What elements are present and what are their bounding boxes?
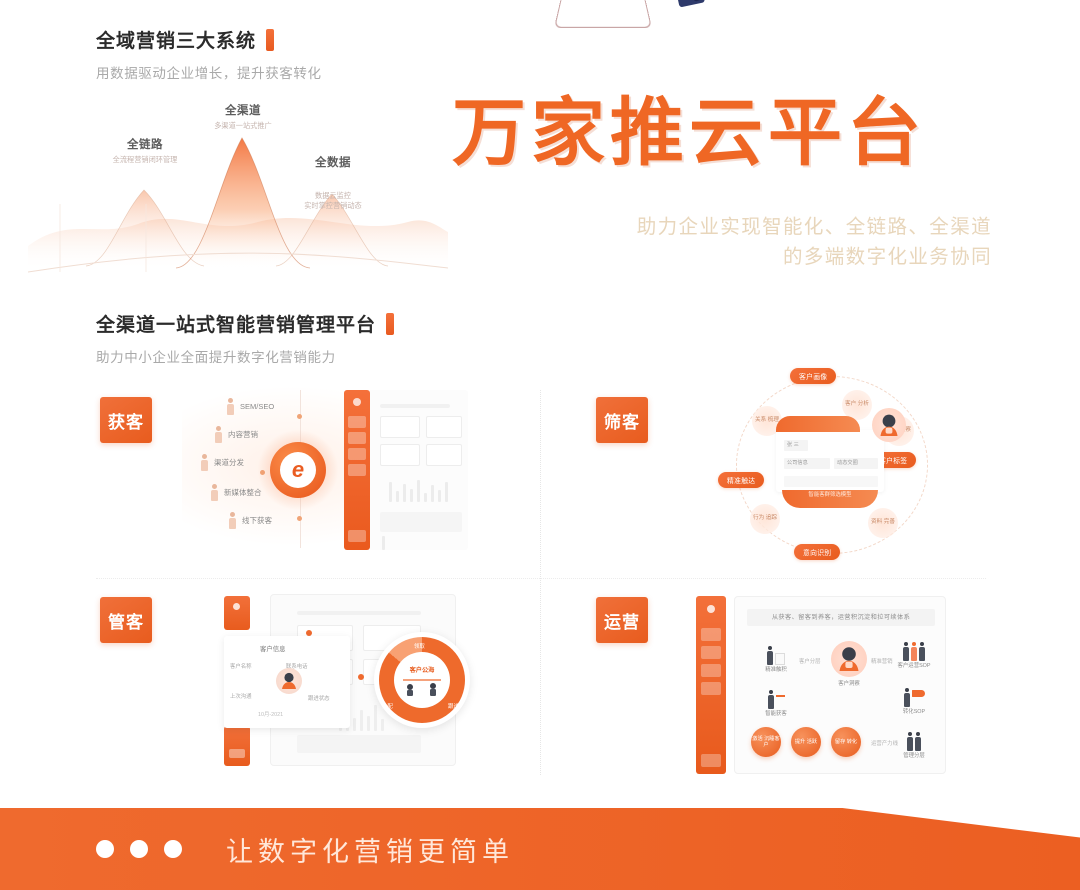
avatar [872, 408, 906, 442]
channel-item: 内容营销 [214, 426, 258, 443]
avatar [276, 668, 302, 694]
acquire-core-node: e [270, 442, 326, 498]
customer-field: 上次沟通 [230, 692, 252, 700]
customer-date: 10月-2021 [258, 710, 283, 718]
person-foot-icon [677, 0, 705, 8]
filter-pill: 意向识别 [794, 544, 840, 560]
person-icon [904, 688, 910, 707]
banner-dot-icon [164, 840, 182, 858]
person-icon [200, 454, 209, 471]
section-two-header: 全渠道一站式智能营销管理平台 助力中小企业全面提升数字化营销能力 [96, 310, 394, 366]
tab-logo-icon [233, 603, 240, 610]
operate-illustration: 从获客、留客到养客，运营积沉淀和拉可续体系 精准触积 智能获 [690, 590, 948, 780]
person-icon [226, 398, 235, 415]
operate-panel: 从获客、留客到养客，运营积沉淀和拉可续体系 精准触积 智能获 [734, 596, 946, 774]
badge-operate[interactable]: 运营 [596, 597, 648, 643]
manage-tab-bottom [224, 726, 250, 766]
feature-grid: 获客 SEM/SEO 内容营销 渠道分发 [0, 372, 1080, 792]
avatar-figure-icon [872, 408, 906, 442]
person-icon [210, 484, 219, 501]
customer-info-title: 客户信息 [260, 644, 286, 653]
badge-manage[interactable]: 管客 [100, 597, 152, 643]
section-one-title-row: 全域营销三大系统 [96, 26, 322, 53]
profile-field-blank [784, 476, 878, 487]
sidebar-item [701, 628, 721, 641]
sidebar-logo-icon [707, 605, 715, 613]
accent-bar-icon [266, 29, 274, 51]
sidebar-item [701, 664, 721, 677]
three-people-icon [891, 637, 937, 661]
mock-bar [382, 536, 385, 550]
mock-box [426, 444, 462, 466]
filter-blob: 行为 追踪 [750, 504, 780, 534]
badge-acquire[interactable]: 获客 [100, 397, 152, 443]
manage-dot [358, 674, 364, 680]
banner-text: 让数字化营销更简单 [226, 830, 514, 869]
accent-bar-icon-2 [386, 313, 394, 335]
person-pointing-icon [753, 685, 799, 709]
acquire-node-dot [297, 414, 302, 419]
tab-item [229, 749, 245, 758]
section-one-subtitle: 用数据驱动企业增长，提升获客转化 [96, 62, 322, 82]
operate-mid-label: 精准营销 [871, 657, 893, 665]
profile-field: 动态交圈 [834, 458, 878, 469]
person-icon [907, 732, 913, 751]
hero-subtitle-line1: 助力企业实现智能化、全链路、全渠道 [637, 212, 992, 242]
mock-bar [410, 489, 413, 502]
acquire-node-dot [297, 516, 302, 521]
hero-subtitle-line2: 的多端数字化业务协同 [637, 242, 992, 272]
mock-bar [367, 716, 370, 731]
customer-pool-ring: 客户公海 领取 分配 跟进 [374, 632, 470, 728]
sidebar-logo-icon [353, 398, 361, 406]
pointer-icon [776, 695, 785, 697]
sidebar-item [348, 464, 366, 476]
pool-figures-icon [400, 676, 444, 696]
filter-pill: 精准触达 [718, 472, 764, 488]
operate-circle: 留存 转化 [831, 727, 861, 757]
person-with-megaphone-icon [891, 683, 937, 707]
avatar-figure-icon [276, 668, 302, 694]
card-bottom-band: 智能客群筛选模型 [782, 490, 878, 508]
sidebar-item [348, 530, 366, 542]
chevron-outline-icon [554, 0, 652, 28]
person-icon [214, 426, 223, 443]
channel-item: 渠道分发 [200, 454, 244, 471]
ring-label: 跟进 [448, 702, 459, 710]
board-icon [775, 653, 785, 665]
ring-center-label: 客户公海 [410, 665, 435, 674]
customer-field: 跟进状态 [308, 694, 330, 702]
person-icon [767, 646, 773, 665]
banner-dots [96, 840, 182, 858]
mock-bar [360, 710, 363, 731]
vertical-divider [540, 390, 541, 775]
hero-subtitle: 助力企业实现智能化、全链路、全渠道 的多端数字化业务协同 [637, 212, 992, 272]
person-icon [768, 690, 774, 709]
peak-label-0: 全链路 全流程营销闭环管理 [90, 136, 200, 165]
filter-illustration: 客户画像 客户标签 精准触达 意向识别 关系 梳理 客户 分析 社交 洞察 行为… [718, 368, 948, 563]
bottom-banner: 让数字化营销更简单 [0, 808, 1080, 890]
person-icon [919, 642, 925, 661]
section-two-title-row: 全渠道一站式智能营销管理平台 [96, 310, 394, 337]
person-icon [228, 512, 237, 529]
avatar-figure-icon [831, 641, 867, 677]
person-icon [903, 642, 909, 661]
sidebar-item [348, 448, 366, 460]
operate-left-item: 智能获客 [753, 685, 799, 718]
mock-box [380, 444, 420, 466]
mock-bar [381, 719, 384, 731]
person-with-board-icon [753, 641, 799, 665]
operate-right-item: 客户运营SOP [891, 637, 937, 670]
poster-page: 全域营销三大系统 用数据驱动企业增长，提升获客转化 [0, 0, 1080, 890]
operate-center-label: 客户洞察 [827, 681, 871, 688]
top-decoration [560, 0, 740, 14]
peak-label-2: 全数据 数据云监控 实时掌控营销动态 [278, 136, 388, 230]
profile-name: 张 三 [784, 440, 808, 451]
ring-label: 分配 [382, 702, 393, 710]
section-two-subtitle: 助力中小企业全面提升数字化营销能力 [96, 346, 394, 366]
manage-tab-top [224, 596, 250, 630]
channel-item: 新媒体整合 [210, 484, 262, 501]
sidebar-item [348, 416, 366, 428]
customer-profile-card: 张 三 公司信息 动态交圈 智能客群筛选模型 [776, 430, 884, 492]
banner-dot-icon [96, 840, 114, 858]
person-icon [915, 732, 921, 751]
sidebar-item [701, 646, 721, 659]
mock-bar [438, 490, 441, 502]
operate-header-text: 从获客、留客到养客，运营积沉淀和拉可续体系 [747, 609, 935, 626]
sidebar-item [348, 432, 366, 444]
customer-info-card: 客户信息 客户名称 联系电话 上次沟通 跟进状态 10月-2021 [224, 636, 350, 728]
avatar [831, 641, 867, 677]
mock-bar [431, 485, 434, 502]
filter-blob: 资料 完善 [868, 508, 898, 538]
person-icon [911, 642, 917, 661]
operate-circle: 提升 活跃 [791, 727, 821, 757]
megaphone-icon [912, 690, 925, 697]
mock-box [426, 416, 462, 438]
operate-foot-note: 运营产力线 [871, 739, 898, 747]
acquire-dashboard-mock [344, 390, 468, 550]
mock-bar [445, 482, 448, 502]
section-one-title: 全域营销三大系统 [96, 26, 256, 53]
profile-field: 公司信息 [784, 458, 830, 469]
mock-bar [417, 480, 420, 502]
dashboard-sidebar [344, 390, 370, 550]
mock-row [297, 735, 421, 753]
mock-box [380, 416, 420, 438]
manage-illustration: 客户信息 客户名称 联系电话 上次沟通 跟进状态 10月-2021 [224, 584, 474, 779]
sidebar-item [701, 682, 721, 695]
badge-filter[interactable]: 筛客 [596, 397, 648, 443]
operate-right-item: 转化SOP [891, 683, 937, 716]
mock-bar [424, 493, 427, 502]
acquire-illustration: SEM/SEO 内容营销 渠道分发 新媒体整合 线下获客 [182, 382, 470, 557]
mock-bar [353, 718, 356, 731]
sidebar-item [701, 754, 721, 767]
section-one-header: 全域营销三大系统 用数据驱动企业增长，提升获客转化 [96, 26, 322, 82]
peak-label-1: 全渠道 多渠道一站式推广 [188, 102, 298, 131]
operate-mid-label: 客户分层 [799, 657, 821, 665]
brand-e-logo-icon: e [280, 452, 316, 488]
channel-item: SEM/SEO [226, 398, 274, 415]
mock-bar [374, 705, 377, 731]
ring-center: 客户公海 [394, 652, 450, 708]
operate-sidebar [696, 596, 726, 774]
mountain-chart: 全链路 全流程营销闭环管理 全渠道 多渠道一站式推广 全数据 数据云监控 实时掌… [28, 96, 448, 281]
horizontal-divider [96, 578, 986, 579]
mock-bar [403, 484, 406, 502]
mock-row [380, 404, 450, 408]
mock-bar [389, 482, 392, 502]
banner-dot-icon [130, 840, 148, 858]
card-top-band [776, 416, 860, 432]
mock-row [297, 611, 421, 615]
ring-label: 领取 [414, 642, 425, 650]
mock-bar [396, 491, 399, 502]
operate-circle: 激活 沉睡客户 [751, 727, 781, 757]
hero-title: 万家推云平台 [452, 96, 926, 170]
channel-item: 线下获客 [228, 512, 272, 529]
customer-field: 客户名称 [230, 662, 252, 670]
mock-row [380, 512, 462, 532]
filter-pill: 客户画像 [790, 368, 836, 384]
operate-left-item: 精准触积 [753, 641, 799, 674]
section-two-title: 全渠道一站式智能营销管理平台 [96, 310, 376, 337]
